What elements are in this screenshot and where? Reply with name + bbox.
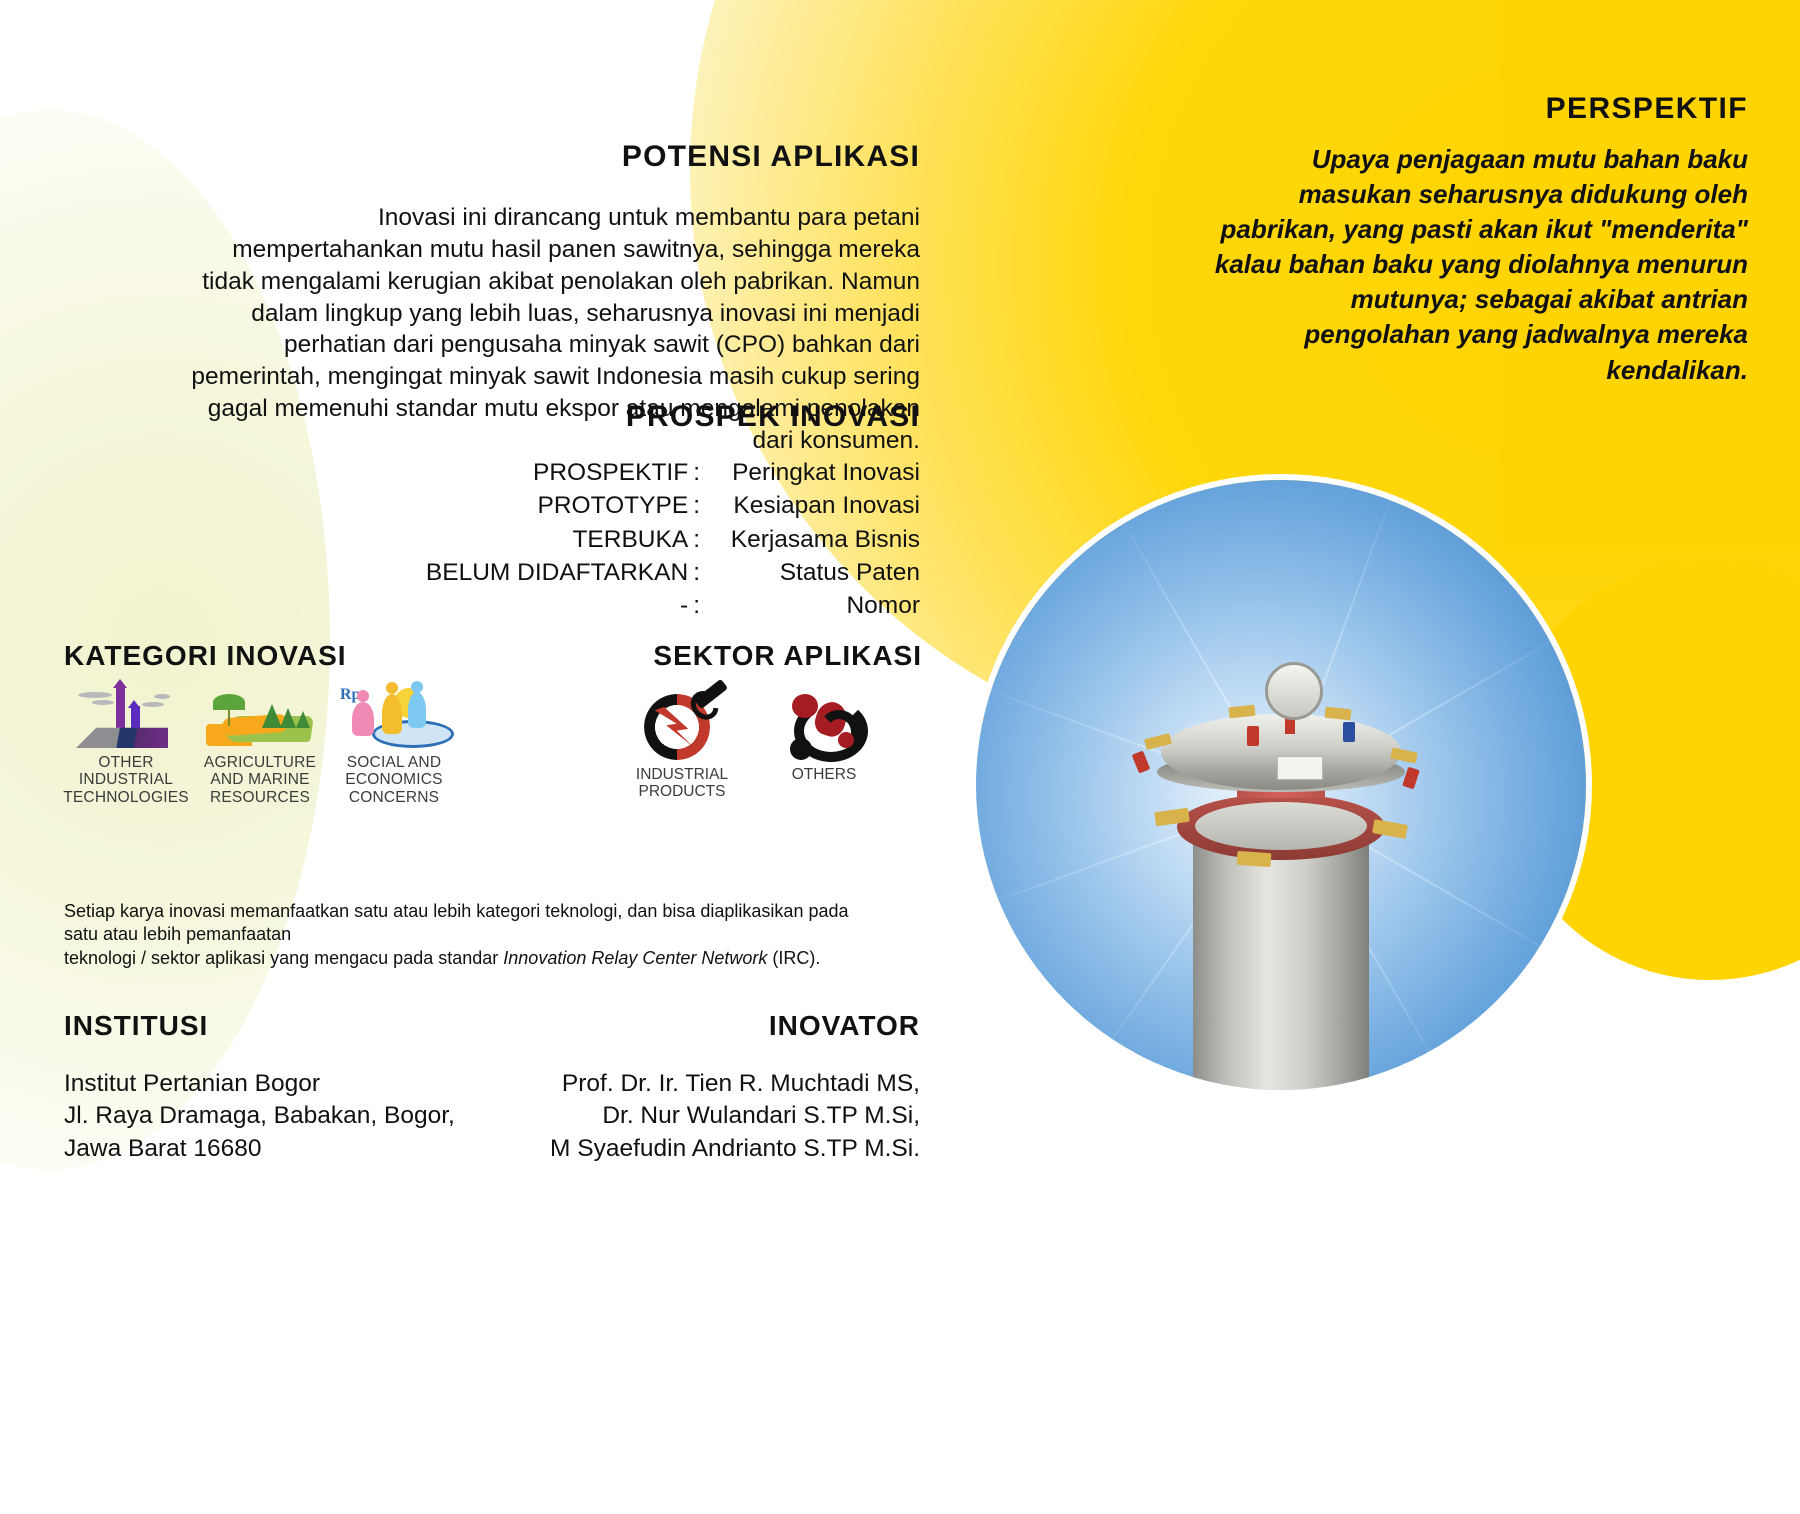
prospek-value: Kerjasama Bisnis [705, 523, 920, 556]
inovator-heading: INOVATOR [480, 1010, 920, 1042]
prospek-separator: : [688, 556, 705, 589]
person-figure [408, 692, 426, 728]
footnote-line-1: Setiap karya inovasi memanfaatkan satu a… [64, 901, 849, 944]
institusi-address: Institut Pertanian Bogor Jl. Raya Dramag… [64, 1068, 484, 1165]
sektor-item-industrial-products: INDUSTRIAL PRODUCTS [622, 686, 742, 801]
prospek-value: Kesiapan Inovasi [705, 489, 920, 522]
inovator-line: Dr. Nur Wulandari S.TP M.Si, [480, 1100, 920, 1132]
prospek-row: TERBUKA : Kerjasama Bisnis [300, 523, 920, 556]
kategori-icon-row: OTHER INDUSTRIAL TECHNOLOGIES AGRICULTUR… [64, 686, 464, 806]
prospek-separator: : [688, 589, 705, 622]
potensi-aplikasi-heading: POTENSI APLIKASI [190, 140, 920, 174]
prospek-key: PROTOTYPE [538, 489, 689, 522]
prospek-row: PROSPEKTIF : Peringkat Inovasi [300, 456, 920, 489]
sektor-item-label: INDUSTRIAL PRODUCTS [622, 766, 742, 801]
institusi-heading: INSTITUSI [64, 1010, 484, 1042]
clamp-handle [1247, 726, 1259, 746]
sektor-icon-row: INDUSTRIAL PRODUCTS OTHERS [592, 686, 922, 801]
kategori-item-label: OTHER INDUSTRIAL TECHNOLOGIES [63, 754, 189, 806]
sektor-aplikasi-heading: SEKTOR APLIKASI [592, 640, 922, 672]
gear-wrench-icon [634, 686, 730, 762]
others-shape [788, 692, 860, 762]
kategori-inovasi-section: KATEGORI INOVASI OTHER INDUSTRIAL TECHNO… [64, 640, 464, 806]
sektor-item-others: OTHERS [764, 686, 884, 801]
prospek-value: Peringkat Inovasi [705, 456, 920, 489]
footnote-line-2-suffix: (IRC). [767, 948, 820, 968]
tree [262, 704, 282, 728]
prospek-key: TERBUKA [572, 523, 688, 556]
clamp-handle [1343, 722, 1355, 742]
sektor-item-label: OTHERS [792, 766, 857, 783]
lid-label-plate [1277, 756, 1323, 780]
pressure-gauge-icon [1265, 662, 1323, 720]
institusi-line: Jawa Barat 16680 [64, 1133, 484, 1165]
sektor-aplikasi-section: SEKTOR APLIKASI INDUSTRIAL PRODUCTS [592, 640, 922, 801]
hook-shape [818, 710, 860, 754]
prospek-key: PROSPEKTIF [533, 456, 688, 489]
perspektif-body: Upaya penjagaan mutu bahan baku masukan … [1208, 142, 1748, 388]
kategori-item-label: AGRICULTURE AND MARINE RESOURCES [198, 754, 322, 806]
dot-shape [790, 738, 812, 760]
others-icon [776, 686, 872, 762]
prospek-inovasi-section: PROSPEK INOVASI PROSPEKTIF : Peringkat I… [300, 400, 920, 623]
footnote-irc-standard-name: Innovation Relay Center Network [503, 948, 767, 968]
factory-icon [70, 686, 182, 748]
prospek-separator: : [688, 523, 705, 556]
perspektif-section: PERSPEKTIF Upaya penjagaan mutu bahan ba… [1208, 92, 1748, 388]
pressure-vessel-photo [976, 480, 1586, 1090]
social-economics-icon: Rp. [338, 686, 450, 748]
prospek-key: - [680, 589, 688, 622]
institusi-section: INSTITUSI Institut Pertanian Bogor Jl. R… [64, 1010, 484, 1165]
dot-shape [792, 694, 818, 718]
kategori-item-social-economics: Rp. SOCIAL AND ECONOMICS CONCERNS [332, 686, 456, 806]
kategori-item-other-industrial: OTHER INDUSTRIAL TECHNOLOGIES [64, 686, 188, 806]
kategori-inovasi-heading: KATEGORI INOVASI [64, 640, 464, 672]
smoke-puff [154, 694, 170, 699]
irc-footnote: Setiap karya inovasi memanfaatkan satu a… [64, 900, 864, 970]
tree [280, 708, 296, 728]
wrench-shape [694, 679, 728, 709]
inovator-line: Prof. Dr. Ir. Tien R. Muchtadi MS, [480, 1068, 920, 1100]
smoke-puff [92, 700, 114, 705]
prospek-key: BELUM DIDAFTARKAN [426, 556, 688, 589]
prospek-separator: : [688, 456, 705, 489]
prospek-value: Nomor [705, 589, 920, 622]
smoke-puff [78, 692, 112, 698]
chimney [116, 686, 125, 730]
vessel-flange-inner [1195, 802, 1367, 850]
palm-tree [228, 704, 230, 726]
footnote-line-2-prefix: teknologi / sektor aplikasi yang mengacu… [64, 948, 503, 968]
perspektif-heading: PERSPEKTIF [1208, 92, 1748, 126]
institusi-line: Institut Pertanian Bogor [64, 1068, 484, 1100]
agriculture-marine-icon [204, 686, 316, 748]
dot-shape [838, 732, 854, 748]
prospek-row: - : Nomor [300, 589, 920, 622]
prospek-separator: : [688, 489, 705, 522]
brochure-page: POTENSI APLIKASI Inovasi ini dirancang u… [0, 0, 1800, 1514]
vessel-body [1193, 826, 1369, 1090]
prospek-row: BELUM DIDAFTARKAN : Status Paten [300, 556, 920, 589]
prospek-inovasi-heading: PROSPEK INOVASI [300, 400, 920, 434]
prospek-value: Status Paten [705, 556, 920, 589]
inovator-names: Prof. Dr. Ir. Tien R. Muchtadi MS, Dr. N… [480, 1068, 920, 1165]
prospek-row: PROTOTYPE : Kesiapan Inovasi [300, 489, 920, 522]
flange-lug [1237, 851, 1272, 867]
smoke-puff [142, 702, 164, 707]
kategori-item-label: SOCIAL AND ECONOMICS CONCERNS [332, 754, 456, 806]
tree [296, 711, 310, 728]
person-figure [382, 694, 402, 734]
person-figure [352, 702, 374, 736]
inovator-line: M Syaefudin Andrianto S.TP M.Si. [480, 1133, 920, 1165]
prospek-rows: PROSPEKTIF : Peringkat Inovasi PROTOTYPE… [300, 456, 920, 623]
clamp-handle [1132, 751, 1151, 774]
institusi-line: Jl. Raya Dramaga, Babakan, Bogor, [64, 1100, 484, 1132]
kategori-item-agriculture-marine: AGRICULTURE AND MARINE RESOURCES [198, 686, 322, 806]
inovator-section: INOVATOR Prof. Dr. Ir. Tien R. Muchtadi … [480, 1010, 920, 1165]
